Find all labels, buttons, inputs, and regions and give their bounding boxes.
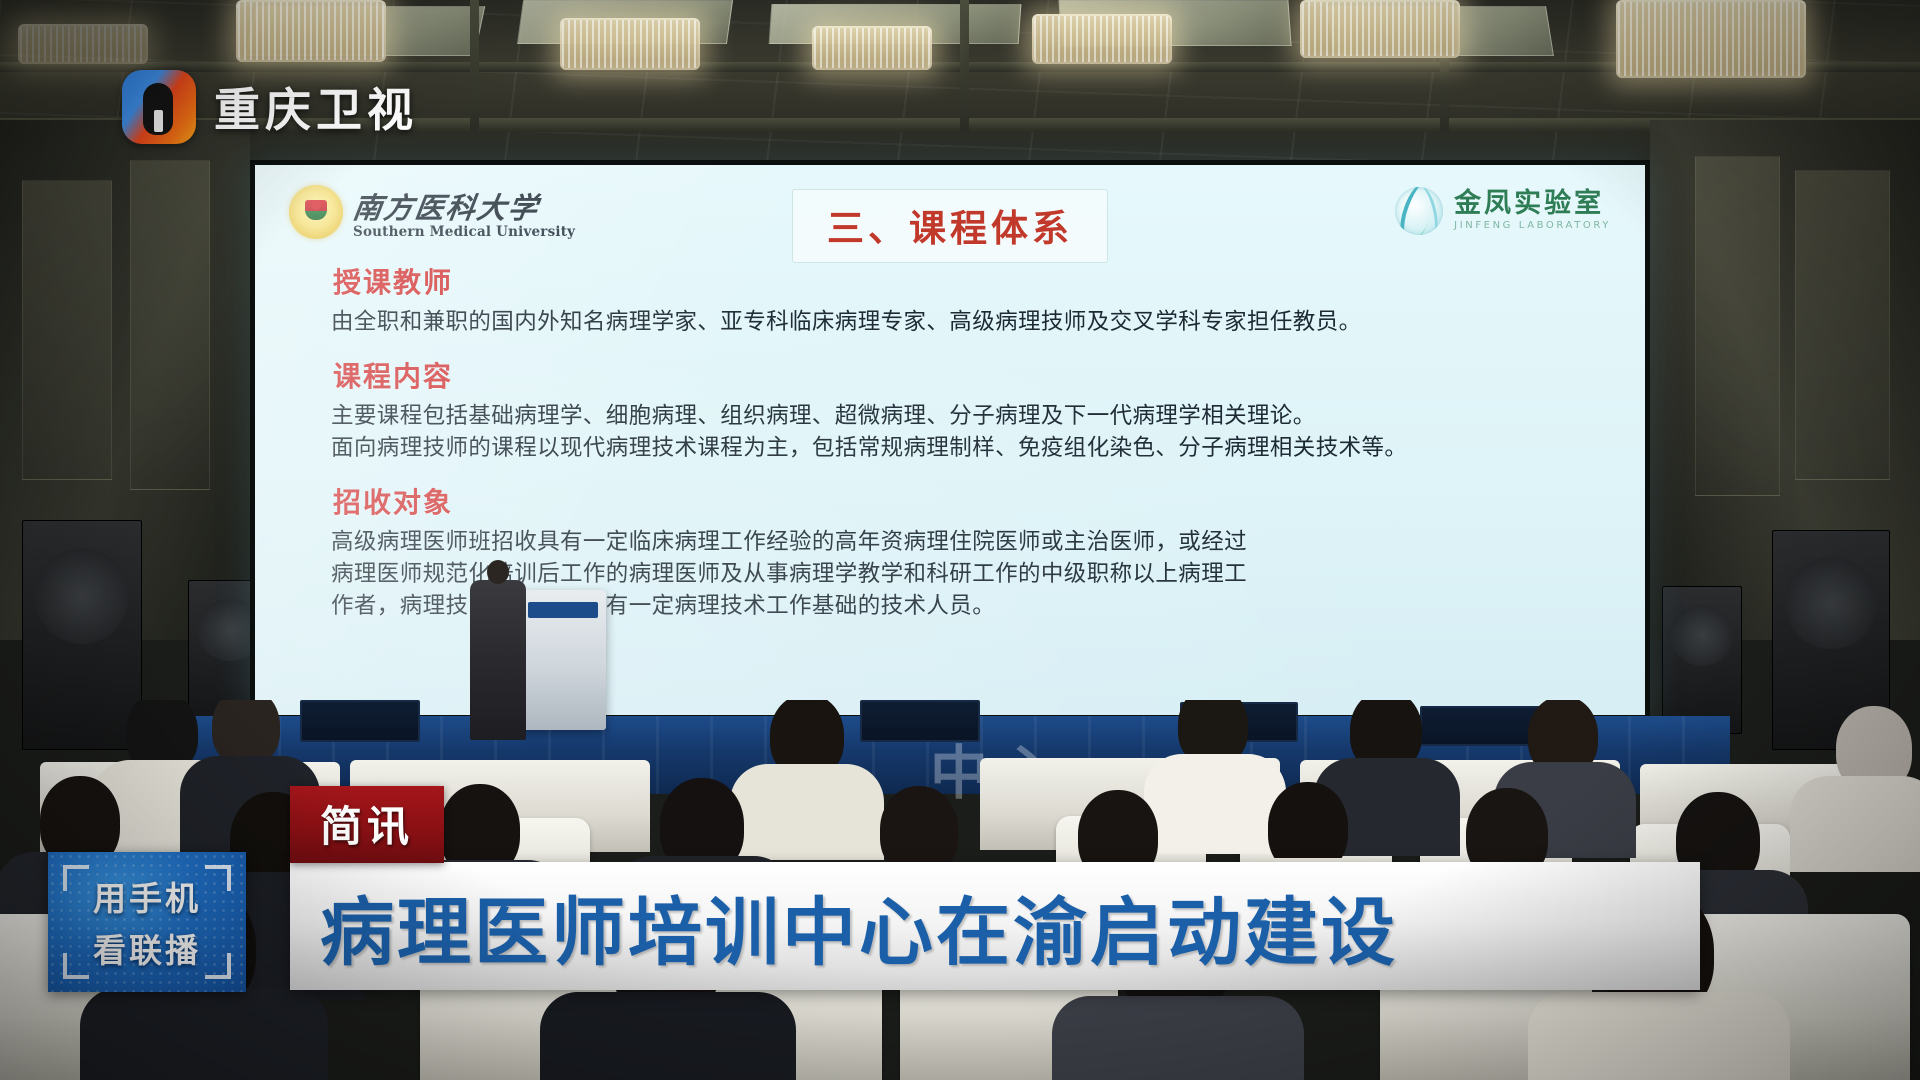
- ceiling-beam: [470, 0, 479, 132]
- section-paragraph: 由全职和兼职的国内外知名病理学家、亚专科临床病理专家、高级病理技师及交叉学科专家…: [331, 307, 1589, 339]
- presentation-slide: 南方医科大学 Southern Medical University 三、课程体…: [255, 165, 1645, 715]
- university-logo: 南方医科大学 Southern Medical University: [289, 185, 575, 239]
- news-kicker-label: 简讯: [320, 802, 414, 851]
- slide-header: 南方医科大学 Southern Medical University 三、课程体…: [255, 179, 1645, 257]
- laboratory-logo: 金凤实验室 JINFENG LABORATORY: [1395, 187, 1611, 235]
- mobile-promo-line2: 看联播: [93, 924, 201, 972]
- chandelier: [18, 24, 148, 64]
- chandelier: [812, 26, 932, 70]
- laboratory-name-cn: 金凤实验室: [1454, 190, 1611, 218]
- slide-title-text: 三、课程体系: [827, 207, 1073, 250]
- mobile-promo-badge: 用手机 看联播: [48, 852, 246, 992]
- channel-bug: 重庆卫视: [122, 70, 418, 144]
- chongqing-tv-logo-icon: [122, 70, 196, 144]
- section-paragraph: 主要课程包括基础病理学、细胞病理、组织病理、超微病理、分子病理及下一代病理学相关…: [331, 401, 1589, 433]
- mobile-promo-line1: 用手机: [93, 872, 201, 920]
- section-paragraph: 高级病理医师班招收具有一定临床病理工作经验的高年资病理住院医师或主治医师，或经过: [331, 527, 1589, 559]
- chandelier: [1300, 0, 1460, 58]
- news-kicker-badge: 简讯: [290, 786, 444, 863]
- channel-name: 重庆卫视: [214, 74, 418, 140]
- ceiling-beam: [960, 0, 969, 132]
- chandelier: [560, 18, 700, 70]
- section-paragraph: 面向病理技师的课程以现代病理技术课程为主，包括常规病理制样、免疫组化染色、分子病…: [331, 433, 1589, 465]
- lower-third-headline: 病理医师培训中心在渝启动建设: [290, 862, 1700, 990]
- presenter-head: [487, 560, 509, 584]
- chandelier: [236, 0, 386, 62]
- broadcast-frame: 南方医科大学 Southern Medical University 三、课程体…: [0, 0, 1920, 1080]
- laboratory-name-en: JINFENG LABORATORY: [1454, 221, 1611, 232]
- section-heading-admission: 招收对象: [333, 481, 1589, 521]
- section-heading-teachers: 授课教师: [333, 261, 1589, 301]
- podium-plate: [528, 602, 598, 618]
- university-crest-icon: [289, 185, 343, 239]
- university-name-cn: 南方医科大学: [351, 194, 577, 223]
- headline-text: 病理医师培训中心在渝启动建设: [290, 873, 1398, 980]
- chandelier: [1616, 0, 1806, 78]
- chandelier: [1032, 14, 1172, 64]
- slide-title: 三、课程体系: [792, 189, 1108, 263]
- jinfeng-laboratory-mark-icon: [1395, 187, 1443, 235]
- university-name-en: Southern Medical University: [353, 226, 575, 240]
- led-screen: 南方医科大学 Southern Medical University 三、课程体…: [250, 160, 1650, 720]
- slide-body: 授课教师 由全职和兼职的国内外知名病理学家、亚专科临床病理专家、高级病理技师及交…: [331, 261, 1589, 623]
- section-heading-content: 课程内容: [333, 355, 1589, 395]
